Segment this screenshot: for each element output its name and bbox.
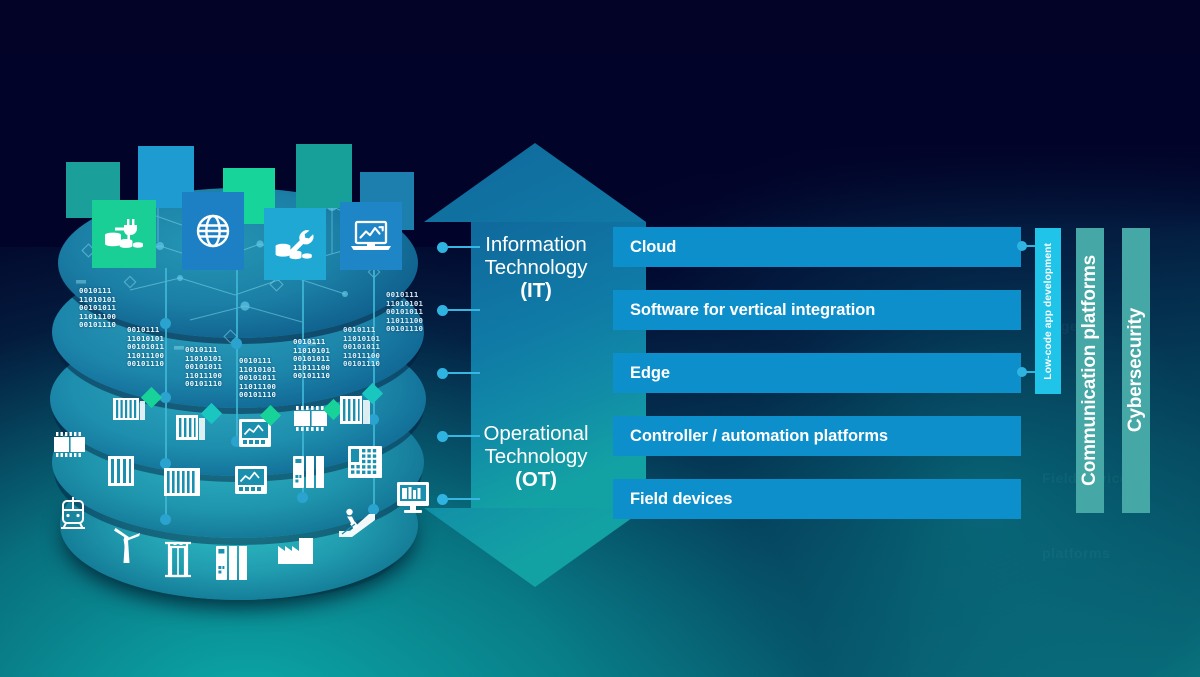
it-line-2: Technology: [485, 256, 588, 279]
globe-icon: [182, 192, 244, 270]
connector-line-controller: [448, 435, 480, 437]
connector-dot-field: [437, 494, 448, 505]
tile-plug-coins: [92, 200, 156, 268]
lowcode-dot-cloud: [1017, 241, 1027, 251]
layer-bar-controller[interactable]: Controller / automation platforms: [613, 416, 1021, 456]
tile-globe: [182, 192, 244, 270]
factory-icon: [278, 538, 314, 566]
layer-label-field: Field devices: [613, 490, 732, 509]
workstation-icon: [397, 482, 431, 514]
crosscut-bar-lowcode[interactable]: Low-code app development: [1035, 228, 1061, 394]
crosscut-label-communication: Communication platforms: [1079, 255, 1101, 486]
crosscut-bar-cybersecurity[interactable]: Cybersecurity: [1122, 228, 1150, 513]
tile-wrench-coins: [264, 208, 326, 280]
wrench-coins-icon: [264, 208, 326, 280]
elevator-icon: [162, 540, 194, 578]
binary-block-2: 0010111 11010101 00101011 11011100 00101…: [127, 326, 164, 369]
hmi-panel-icon-2: [234, 465, 268, 495]
connector-line-field: [448, 498, 480, 500]
laptop-chart-icon: [340, 202, 402, 270]
layer-label-cloud: Cloud: [613, 238, 676, 257]
lowcode-dot-edge: [1017, 367, 1027, 377]
tram-icon: [60, 496, 86, 530]
layer-bar-field[interactable]: Field devices: [613, 479, 1021, 519]
domain-label-it: Information Technology (IT): [451, 233, 621, 302]
it-line-1: Information: [485, 233, 586, 256]
wind-turbine-icon: [110, 524, 142, 564]
binary-block-6: 0010111 11010101 00101011 11011100 00101…: [343, 326, 380, 369]
background-ghost-text-3: platforms: [1042, 545, 1110, 561]
layer-label-software: Software for vertical integration: [613, 301, 875, 320]
escalator-icon: [336, 508, 376, 542]
backdrop-tile-4: [296, 144, 352, 208]
io-module-icon-2: [54, 432, 90, 458]
drive-cabinet-icon: [293, 456, 325, 490]
binary-block-3: 0010111 11010101 00101011 11011100 00101…: [185, 346, 222, 389]
ot-line-2: Technology: [485, 445, 588, 468]
diagram-canvas: Edge Field devices platforms: [0, 0, 1200, 677]
layer-bar-software[interactable]: Software for vertical integration: [613, 290, 1021, 330]
connector-line-cloud: [448, 246, 480, 248]
layer-label-controller: Controller / automation platforms: [613, 427, 888, 446]
crosscut-label-lowcode: Low-code app development: [1043, 243, 1054, 380]
layer-bar-edge[interactable]: Edge: [613, 353, 1021, 393]
connector-line-edge: [448, 372, 480, 374]
layer-bar-cloud[interactable]: Cloud: [613, 227, 1021, 267]
connector-dot-cloud: [437, 242, 448, 253]
binary-block-7: 0010111 11010101 00101011 11011100 00101…: [386, 291, 423, 334]
stem-node-3b: [297, 492, 308, 503]
it-ot-stack-illustration: 0010111 11010101 00101011 11011100 00101…: [40, 150, 460, 610]
control-panel-icon: [348, 446, 384, 480]
barcode-module-icon-3: [164, 468, 202, 498]
binary-block-1: 0010111 11010101 00101011 11011100 00101…: [79, 287, 116, 330]
it-abbr: (IT): [520, 279, 551, 302]
crosscut-bar-communication[interactable]: Communication platforms: [1076, 228, 1104, 513]
stem-node-1d: [160, 514, 171, 525]
plug-coins-icon: [92, 200, 156, 268]
crosscut-label-cybersecurity: Cybersecurity: [1125, 308, 1147, 432]
binary-block-5: 0010111 11010101 00101011 11011100 00101…: [293, 338, 330, 381]
stem-node-2a: [231, 338, 242, 349]
binary-block-4: 0010111 11010101 00101011 11011100 00101…: [239, 357, 276, 400]
drive-cabinet-icon-2: [216, 546, 248, 582]
connector-dot-controller: [437, 431, 448, 442]
barcode-module-icon-2: [108, 456, 136, 488]
connector-dot-edge: [437, 368, 448, 379]
domain-label-ot: Operational Technology (OT): [451, 422, 621, 491]
connector-line-software: [448, 309, 480, 311]
ot-line-1: Operational: [484, 422, 589, 445]
connector-dot-software: [437, 305, 448, 316]
server-rack-icon: [112, 396, 146, 422]
tile-laptop-chart: [340, 202, 402, 270]
ot-abbr: (OT): [515, 468, 557, 491]
layer-label-edge: Edge: [613, 364, 670, 383]
